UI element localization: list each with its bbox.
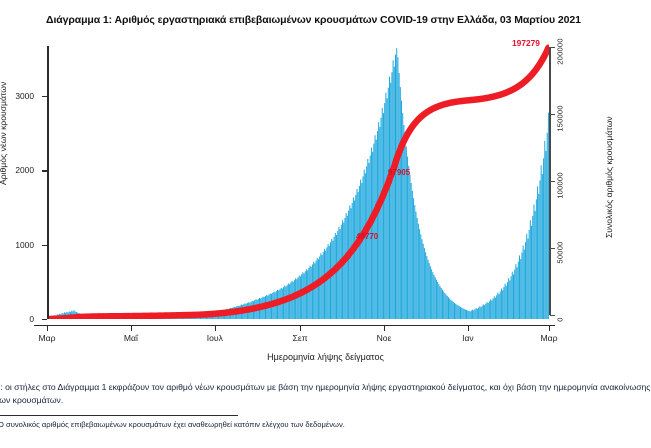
bar <box>467 311 468 319</box>
bar <box>442 290 443 319</box>
bar <box>307 270 308 319</box>
bar <box>436 280 437 319</box>
y-tick-label-right: 50000 <box>556 241 565 263</box>
bar <box>342 220 343 319</box>
bar <box>430 266 431 319</box>
bar <box>448 297 449 319</box>
bar <box>330 242 331 319</box>
x-tick <box>47 326 48 331</box>
bar <box>429 263 430 319</box>
bar <box>319 256 320 319</box>
bar <box>301 274 302 319</box>
bar <box>531 226 532 319</box>
bar <box>500 292 501 320</box>
x-tick-label: Νοε <box>377 333 392 343</box>
bar <box>395 55 396 319</box>
bar <box>389 77 390 319</box>
y-tick-right <box>550 315 555 316</box>
bar <box>320 253 321 319</box>
bar <box>335 233 336 319</box>
bar <box>432 272 433 319</box>
bar <box>459 306 460 319</box>
bar <box>539 180 540 319</box>
x-tick <box>131 326 132 331</box>
bar <box>306 269 307 319</box>
bar <box>326 247 327 319</box>
bar <box>316 261 317 319</box>
bar <box>477 309 478 319</box>
bar <box>353 197 354 319</box>
x-tick-label: Μαΐ <box>124 333 138 343</box>
bar <box>422 239 423 319</box>
bar <box>365 173 366 319</box>
bar <box>452 301 453 319</box>
bar <box>525 242 526 319</box>
bar <box>385 93 386 319</box>
bar <box>437 282 438 319</box>
y-axis-left-spine <box>47 46 49 319</box>
bar <box>341 225 342 319</box>
milestone-label-1: 49770 <box>356 232 378 241</box>
bar <box>384 103 385 319</box>
bar <box>300 276 301 319</box>
bar <box>311 267 312 319</box>
bar <box>527 239 528 319</box>
bar <box>349 205 350 319</box>
bar <box>450 300 451 319</box>
bar <box>387 98 388 319</box>
bar <box>472 310 473 319</box>
bar <box>530 220 531 319</box>
chart-page: Διάγραμμα 1: Αριθμός εργαστηριακά επιβεβ… <box>0 0 651 448</box>
bar <box>337 231 338 319</box>
bar <box>397 57 398 319</box>
bar <box>461 308 462 319</box>
bar <box>496 295 497 319</box>
bar <box>396 48 397 319</box>
bar <box>383 113 384 319</box>
bar <box>454 303 455 319</box>
y-tick-label-right: 100000 <box>556 172 565 199</box>
bar <box>484 305 485 319</box>
bar <box>441 288 442 319</box>
bar <box>447 296 448 319</box>
bar <box>423 244 424 319</box>
bar <box>379 127 380 319</box>
y-tick-label-left: 0 <box>0 314 34 324</box>
bar <box>431 269 432 319</box>
bar <box>340 229 341 319</box>
bar <box>434 275 435 319</box>
bar <box>305 271 306 319</box>
bar <box>289 284 290 319</box>
bar <box>356 189 357 319</box>
bar <box>354 200 355 319</box>
bar <box>533 205 534 319</box>
bar <box>497 293 498 319</box>
bar <box>506 286 507 319</box>
bar <box>419 229 420 319</box>
bar <box>347 216 348 319</box>
bar <box>346 213 347 319</box>
bar <box>375 135 376 319</box>
bar <box>493 298 494 319</box>
bar <box>405 136 406 319</box>
bar <box>532 216 533 319</box>
bar <box>501 289 502 319</box>
bar <box>460 307 461 319</box>
bar <box>520 259 521 319</box>
bar <box>453 302 454 319</box>
bar <box>325 251 326 319</box>
bar <box>329 246 330 319</box>
y-tick-label-right: 150000 <box>556 105 565 132</box>
bar <box>535 211 536 319</box>
bar <box>366 166 367 319</box>
bar <box>361 183 362 319</box>
bar <box>298 277 299 319</box>
bar <box>317 258 318 319</box>
x-tick <box>300 326 301 331</box>
bar <box>515 264 516 319</box>
bar <box>473 310 474 319</box>
bar <box>482 306 483 319</box>
plot-area <box>47 44 549 319</box>
bar <box>518 262 519 319</box>
bar <box>364 170 365 319</box>
bar <box>359 186 360 319</box>
bar <box>523 245 524 319</box>
bar <box>378 122 379 319</box>
bar <box>511 276 512 319</box>
bar <box>494 296 495 319</box>
bar <box>505 284 506 319</box>
bar <box>468 311 469 319</box>
y-tick-right <box>550 47 555 48</box>
x-tick <box>468 326 469 331</box>
bar <box>476 308 477 319</box>
bar <box>521 253 522 319</box>
bar <box>401 100 402 319</box>
bar <box>350 208 351 319</box>
bar <box>426 256 427 319</box>
y-tick-label-left: 1000 <box>0 240 34 250</box>
page-title: Διάγραμμα 1: Αριθμός εργαστηριακά επιβεβ… <box>46 14 621 26</box>
bar <box>376 140 377 319</box>
bar <box>544 141 545 319</box>
bar <box>519 255 520 319</box>
bar <box>328 244 329 319</box>
bar <box>536 199 537 319</box>
bar <box>471 311 472 319</box>
bar <box>408 166 409 319</box>
bar <box>446 295 447 319</box>
bar <box>363 176 364 319</box>
plot-inner <box>47 44 549 319</box>
bar <box>413 198 414 319</box>
bar <box>409 175 410 319</box>
bar <box>336 235 337 319</box>
bar <box>304 274 305 319</box>
x-axis-title: Ημερομηνία λήψης δείγματος <box>0 352 651 362</box>
bar <box>334 237 335 319</box>
bar <box>420 234 421 319</box>
bar <box>418 224 419 319</box>
x-tick <box>215 326 216 331</box>
y-tick-left <box>42 96 47 97</box>
bar <box>415 212 416 319</box>
bar <box>382 108 383 319</box>
chart-canvas <box>47 44 549 319</box>
bar <box>314 263 315 319</box>
bar <box>344 218 345 319</box>
bar <box>526 234 527 319</box>
bar <box>338 227 339 319</box>
bar <box>458 305 459 319</box>
x-tick <box>549 326 550 331</box>
bar <box>390 83 391 319</box>
bar <box>543 158 544 319</box>
endpoint-total-label: 197279 <box>512 38 540 48</box>
bar <box>456 305 457 319</box>
bar <box>438 284 439 319</box>
bar <box>509 280 510 319</box>
bar <box>483 304 484 319</box>
bar <box>318 259 319 319</box>
bar <box>323 252 324 319</box>
bar-series <box>47 48 549 319</box>
y-axis-left-title: Αριθμός νέων κρουσμάτων <box>0 82 8 185</box>
bar <box>399 73 400 319</box>
x-tick <box>384 326 385 331</box>
bar <box>381 118 382 319</box>
bar <box>308 268 309 319</box>
y-tick-left <box>42 319 47 320</box>
bar <box>529 230 530 319</box>
bar <box>394 67 395 319</box>
bar <box>478 308 479 319</box>
bar <box>489 301 490 319</box>
bar <box>414 205 415 319</box>
bar <box>412 191 413 319</box>
bar <box>524 250 525 319</box>
bar <box>503 287 504 319</box>
bar <box>507 282 508 319</box>
footnote-secondary: Ο συνολικός αριθμός επιβεβαιωμένων κρουσ… <box>0 419 649 430</box>
bar <box>358 192 359 319</box>
milestone-label-2: 97905 <box>388 168 410 177</box>
y-tick-left <box>42 170 47 171</box>
bar <box>391 72 392 319</box>
bar <box>465 309 466 319</box>
bar <box>377 131 378 319</box>
bar <box>470 311 471 319</box>
bar <box>542 174 543 319</box>
bar <box>490 299 491 319</box>
bar <box>455 304 456 319</box>
bar <box>474 309 475 319</box>
bar <box>407 157 408 319</box>
bar <box>487 302 488 319</box>
bar <box>425 252 426 319</box>
x-tick-label: Ιαν <box>462 333 474 343</box>
y-tick-right <box>550 114 555 115</box>
bar <box>313 262 314 319</box>
bar <box>324 249 325 319</box>
y-tick-right <box>550 248 555 249</box>
bar <box>355 195 356 319</box>
bar <box>512 272 513 319</box>
y-tick-right <box>550 181 555 182</box>
bar <box>296 279 297 319</box>
bar <box>502 290 503 319</box>
bar <box>485 304 486 319</box>
bar <box>514 270 515 320</box>
x-axis-spine <box>34 325 555 326</box>
bar <box>464 309 465 319</box>
bar <box>388 88 389 319</box>
bar <box>449 299 450 319</box>
bar <box>411 183 412 319</box>
bar <box>488 303 489 319</box>
footnote-divider <box>0 415 238 416</box>
y-axis-right-title: Συνολικός αριθμός κρουσμάτων <box>604 116 614 238</box>
bar <box>417 218 418 319</box>
x-tick-label: Μαρ <box>540 333 557 343</box>
bar <box>400 87 401 319</box>
x-tick-label: Ιουλ <box>207 333 223 343</box>
bar <box>322 255 323 319</box>
bar <box>541 165 542 319</box>
bar <box>428 260 429 319</box>
bar <box>393 60 394 319</box>
y-tick-label-right: 0 <box>556 317 565 321</box>
bar <box>538 194 539 319</box>
bar <box>343 223 344 319</box>
bar <box>499 294 500 319</box>
bar <box>491 300 492 319</box>
bar <box>466 310 467 319</box>
bar <box>312 264 313 319</box>
bar <box>537 186 538 319</box>
bar <box>348 211 349 319</box>
y-tick-left <box>42 245 47 246</box>
x-tick-label: Σεπ <box>293 333 308 343</box>
bar <box>435 277 436 319</box>
bar <box>479 306 480 319</box>
bar <box>443 292 444 320</box>
x-tick-label: Μαρ <box>38 333 55 343</box>
bar <box>332 241 333 319</box>
bar <box>462 308 463 319</box>
bar <box>360 180 361 319</box>
bar <box>310 266 311 319</box>
bar <box>403 125 404 319</box>
bar <box>545 151 546 319</box>
bar <box>440 286 441 319</box>
bar <box>517 267 518 319</box>
bar <box>331 239 332 319</box>
bar <box>424 248 425 319</box>
bar <box>495 298 496 319</box>
bar <box>547 133 548 319</box>
y-tick-label-right: 200000 <box>556 38 565 65</box>
bar <box>508 278 509 319</box>
bar <box>444 293 445 319</box>
bar <box>352 203 353 319</box>
footnote-primary: ι.: οι στήλες στο Διάγραμμα 1 εκφράζουν … <box>0 381 651 407</box>
bar <box>513 274 514 319</box>
bar <box>293 282 294 319</box>
bar <box>480 307 481 319</box>
